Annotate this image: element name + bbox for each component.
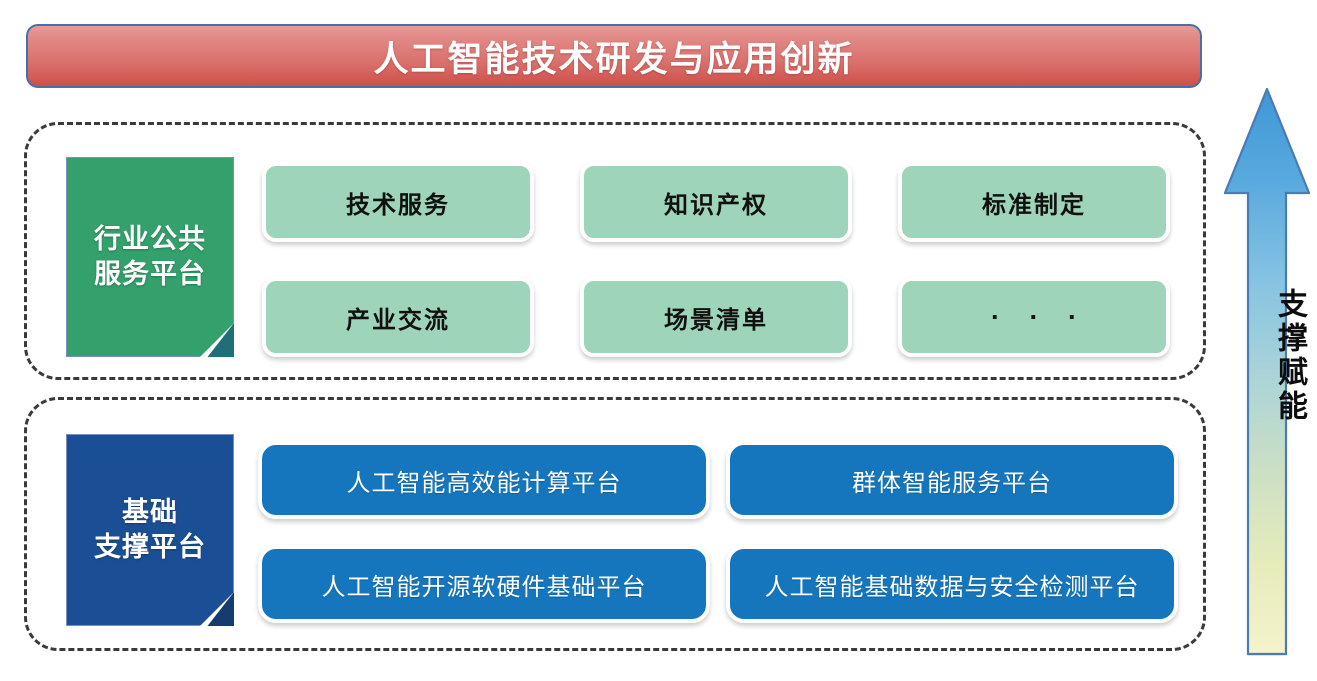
- section-label-line1: 行业公共: [94, 224, 206, 254]
- chip-label: 技术服务: [346, 185, 450, 220]
- chip-label: 人工智能开源软硬件基础平台: [322, 567, 647, 602]
- chip-label: 产业交流: [346, 300, 450, 335]
- chip-label: 知识产权: [664, 185, 768, 220]
- support-arrow: 支撑赋能: [1224, 88, 1310, 656]
- section-label-line1: 基础: [122, 497, 178, 527]
- chip-label: 群体智能服务平台: [852, 463, 1052, 498]
- chip-label: 标准制定: [982, 185, 1086, 220]
- title-banner: 人工智能技术研发与应用创新: [26, 24, 1202, 88]
- chip-public-5[interactable]: 场景清单: [580, 277, 852, 357]
- chip-label: 人工智能高效能计算平台: [347, 463, 622, 498]
- chip-label: 人工智能基础数据与安全检测平台: [765, 567, 1140, 602]
- page-title: 人工智能技术研发与应用创新: [373, 31, 854, 82]
- section-label-public-service: 行业公共 服务平台: [66, 157, 234, 357]
- chip-public-6-ellipsis[interactable]: · · ·: [898, 277, 1170, 357]
- chip-public-1[interactable]: 技术服务: [262, 162, 534, 242]
- ellipsis-label: · · ·: [980, 302, 1088, 333]
- chip-public-4[interactable]: 产业交流: [262, 277, 534, 357]
- arrow-label: 支撑赋能: [1224, 288, 1310, 424]
- chip-label: 场景清单: [664, 300, 768, 335]
- chip-base-4[interactable]: 人工智能基础数据与安全检测平台: [726, 545, 1178, 623]
- chip-public-2[interactable]: 知识产权: [580, 162, 852, 242]
- section-label-base-support: 基础 支撑平台: [66, 434, 234, 626]
- section-label-text: 行业公共 服务平台: [94, 222, 206, 291]
- section-label-line2: 支撑平台: [94, 532, 206, 562]
- section-label-line2: 服务平台: [94, 259, 206, 289]
- chip-public-3[interactable]: 标准制定: [898, 162, 1170, 242]
- chip-base-1[interactable]: 人工智能高效能计算平台: [258, 441, 710, 519]
- chip-base-3[interactable]: 人工智能开源软硬件基础平台: [258, 545, 710, 623]
- section-label-text: 基础 支撑平台: [94, 495, 206, 564]
- chip-base-2[interactable]: 群体智能服务平台: [726, 441, 1178, 519]
- slide-canvas: 人工智能技术研发与应用创新 行业公共 服务平台 技术服务 知识产权 标准制定 产…: [0, 0, 1317, 681]
